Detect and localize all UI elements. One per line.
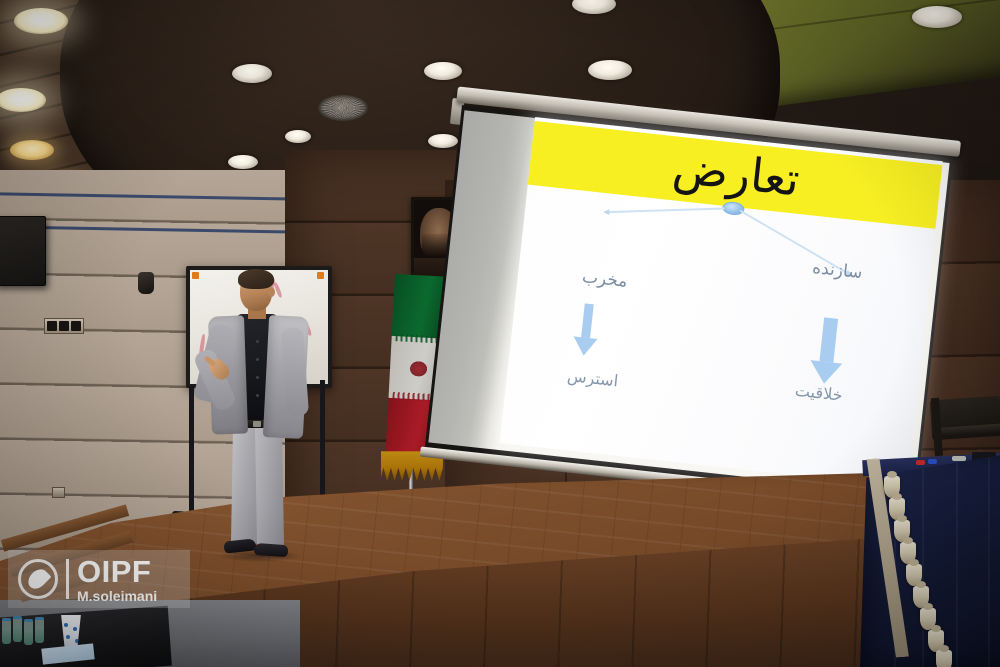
branch-label-destructive: مخرب <box>581 267 628 292</box>
watermark-brand: OIPF <box>77 556 157 587</box>
marker-black-icon <box>952 456 966 461</box>
presenter-shoe <box>254 543 289 557</box>
downlight-icon <box>232 64 272 83</box>
conference-hall-photo: تعارض مخرب سازنده استرس خلاقیت <box>0 0 1000 667</box>
downlight-icon <box>912 6 962 28</box>
downlight-icon <box>228 155 258 169</box>
branch-label-constructive: سازنده <box>811 258 863 283</box>
projection-screen: تعارض مخرب سازنده استرس خلاقیت <box>423 105 953 516</box>
water-bottle-icon <box>35 617 44 643</box>
presenter-leg <box>255 426 284 546</box>
watermark-divider <box>66 559 69 599</box>
presenter <box>196 272 326 554</box>
water-bottle-icon <box>24 619 33 645</box>
downlight-icon <box>424 62 462 80</box>
connector-to-destructive <box>604 208 724 213</box>
slide-title: تعارض <box>670 143 802 206</box>
tassel-icon <box>936 650 952 667</box>
watermark-author: M.soleimani <box>77 589 157 603</box>
marker-blue-icon <box>928 459 937 464</box>
flame-icon <box>18 559 58 599</box>
presenter-ear <box>268 287 275 297</box>
downlight-icon <box>428 134 458 148</box>
downlight-icon <box>588 60 632 80</box>
downlight-icon <box>14 8 68 34</box>
wall-control-panel[interactable] <box>44 318 84 334</box>
ceiling-vent-icon <box>318 95 368 121</box>
water-bottle-icon <box>13 616 22 642</box>
water-bottle-icon <box>2 618 11 644</box>
downlight-icon <box>285 130 311 143</box>
leaf-label-stress: استرس <box>566 366 619 390</box>
presenter-belt-buckle <box>253 421 261 427</box>
arrow-down-constructive-icon <box>808 316 847 385</box>
leaf-label-creativity: خلاقیت <box>794 381 843 405</box>
wall-speaker-icon <box>0 216 46 286</box>
marker-red-icon <box>916 460 925 465</box>
downlight-icon <box>10 140 54 160</box>
projected-slide: تعارض مخرب سازنده استرس خلاقیت <box>500 117 943 487</box>
presenter-hair <box>238 269 274 289</box>
wall-light-icon <box>138 272 154 294</box>
arrow-down-destructive-icon <box>572 303 601 357</box>
watermark: OIPF M.soleimani <box>8 550 190 608</box>
